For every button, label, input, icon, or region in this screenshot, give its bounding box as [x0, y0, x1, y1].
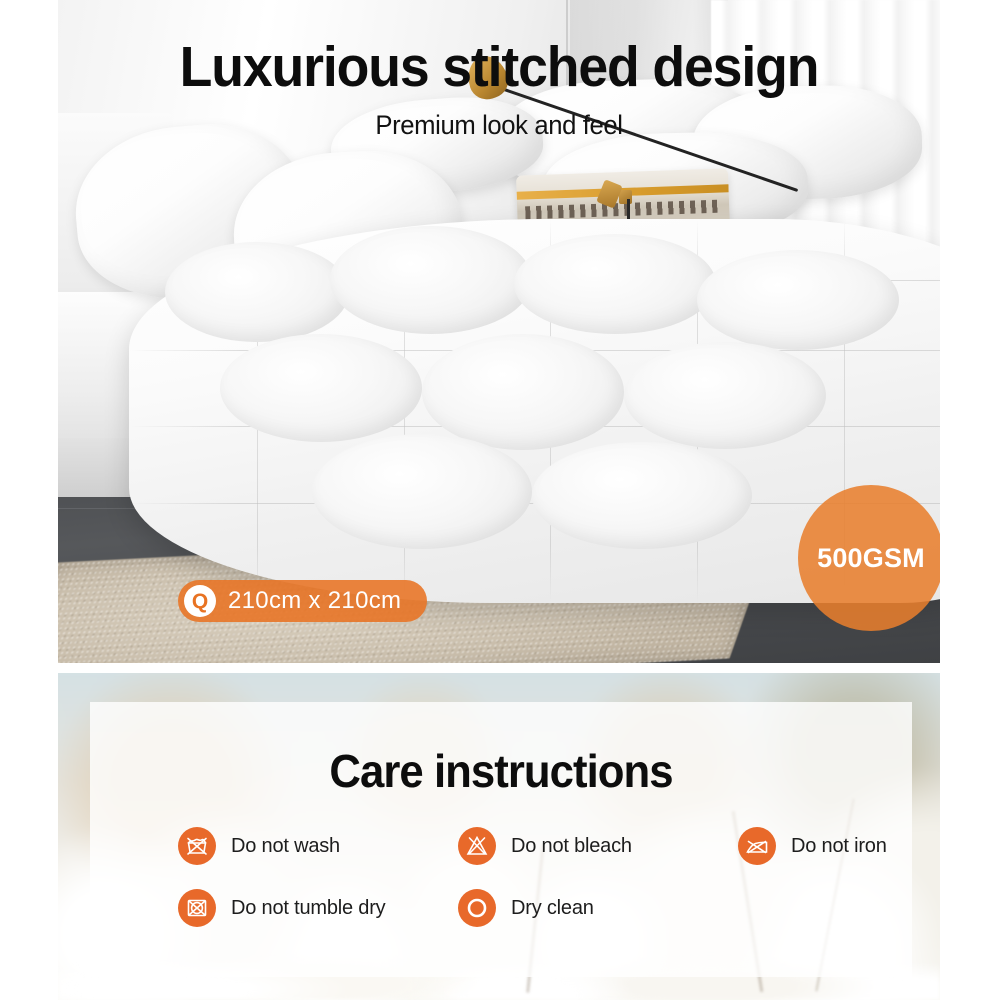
care-row: Do not wash Do not bleach [90, 827, 912, 889]
care-label: Do not wash [231, 835, 340, 858]
care-label: Dry clean [511, 897, 594, 920]
product-banner: Luxurious stitched design Premium look a… [0, 0, 1000, 1000]
care-label: Do not tumble dry [231, 897, 385, 920]
care-row: Do not tumble dry Dry clean [90, 889, 912, 951]
care-label: Do not bleach [511, 835, 632, 858]
page-subtitle: Premium look and feel [80, 110, 918, 141]
size-letter-icon: Q [184, 585, 216, 617]
size-dimensions: 210cm x 210cm [228, 587, 401, 615]
care-title: Care instructions [111, 744, 892, 798]
care-item-do-not-wash: Do not wash [178, 827, 340, 865]
page-title: Luxurious stitched design [84, 34, 913, 100]
hero-section: Luxurious stitched design Premium look a… [58, 0, 940, 663]
gsm-value: 500GSM [817, 543, 925, 574]
lamp-joint [619, 190, 632, 205]
size-badge: Q 210cm x 210cm [178, 580, 427, 622]
gsm-badge: 500GSM [798, 485, 940, 631]
care-instructions-panel: Care instructions Do not wash [90, 702, 912, 977]
care-item-do-not-tumble-dry: Do not tumble dry [178, 889, 385, 927]
care-label: Do not iron [791, 835, 887, 858]
do-not-wash-icon [178, 827, 216, 865]
do-not-iron-icon [738, 827, 776, 865]
care-grid: Do not wash Do not bleach [90, 827, 912, 951]
care-item-do-not-iron: Do not iron [738, 827, 887, 865]
dry-clean-icon [458, 889, 496, 927]
do-not-tumble-dry-icon [178, 889, 216, 927]
care-item-dry-clean: Dry clean [458, 889, 594, 927]
care-item-do-not-bleach: Do not bleach [458, 827, 632, 865]
do-not-bleach-icon [458, 827, 496, 865]
care-section: Care instructions Do not wash [58, 673, 940, 1000]
